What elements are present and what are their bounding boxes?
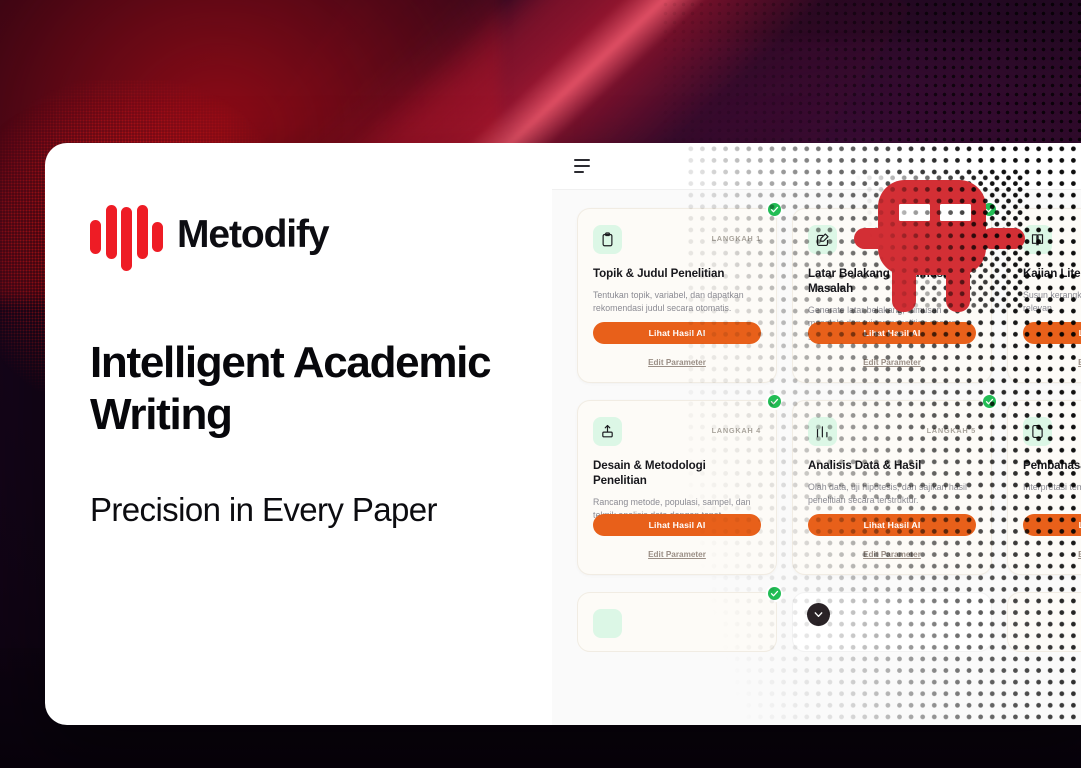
step-card[interactable]: LANGKAH 5 Analisis Data & Hasil Olah dat… <box>792 400 992 575</box>
view-ai-result-button[interactable]: Lihat Hasil AI <box>593 514 761 536</box>
edit-parameter-link[interactable]: Edit Parameter <box>578 358 776 367</box>
doc-icon <box>1023 417 1052 446</box>
edit-square-icon <box>808 225 837 254</box>
step-label: LANGKAH 5 <box>927 426 976 435</box>
view-ai-result-button[interactable]: Lihat Hasil AI <box>1023 322 1081 344</box>
status-badge <box>766 585 783 602</box>
step-title: Topik & Judul Penelitian <box>593 267 761 282</box>
view-ai-result-button[interactable]: Lihat Hasil AI <box>593 322 761 344</box>
edit-parameter-link[interactable]: Edit Parameter <box>793 550 991 559</box>
status-badge <box>766 393 783 410</box>
step-title: Desain & Metodologi Penelitian <box>593 459 761 489</box>
bar-chart-icon <box>808 417 837 446</box>
step-description: Interpretasi temuan penelitian. <box>1023 481 1081 495</box>
step-label: LANGKAH 1 <box>712 234 761 243</box>
step-title: Analisis Data & Hasil <box>808 459 976 474</box>
edit-parameter-link[interactable]: Edit Parameter <box>793 358 991 367</box>
page-subtitle: Precision in Every Paper <box>90 488 490 533</box>
collapse-panel[interactable] <box>792 592 992 652</box>
step-description: Olah data, uji hipotesis, dan sajikan ha… <box>808 481 976 508</box>
status-badge <box>981 393 998 410</box>
edit-parameter-link[interactable]: Edit Parameter <box>1008 358 1081 367</box>
step-description: Tentukan topik, variabel, dan dapatkan r… <box>593 289 761 316</box>
chevron-down-icon[interactable] <box>807 603 830 626</box>
status-badge <box>766 201 783 218</box>
waveform-bars-icon <box>90 203 163 265</box>
clipboard-icon <box>593 225 622 254</box>
hero-copy: Metodify Intelligent Academic Writing Pr… <box>90 203 560 533</box>
book-icon <box>1023 225 1052 254</box>
step-card[interactable]: LANGKAH 4 Desain & Metodologi Penelitian… <box>577 400 777 575</box>
edit-parameter-link[interactable]: Edit Parameter <box>578 550 776 559</box>
step-label: LANGKAH 4 <box>712 426 761 435</box>
card-icon-placeholder <box>593 609 622 638</box>
brand-logo[interactable]: Metodify <box>90 203 560 265</box>
step-title: Pembahasan <box>1023 459 1081 474</box>
step-card-grid-partial <box>552 592 1081 652</box>
step-card[interactable] <box>1007 592 1081 652</box>
upload-tray-icon <box>593 417 622 446</box>
view-ai-result-button[interactable]: Lihat Hasil AI <box>1023 514 1081 536</box>
step-title: Kajian Literatur <box>1023 267 1081 282</box>
view-ai-result-button[interactable]: Lihat Hasil AI <box>808 322 976 344</box>
hamburger-list-icon[interactable] <box>574 159 590 174</box>
robot-mascot-icon <box>852 172 1027 312</box>
page-title: Intelligent Academic Writing <box>90 337 550 441</box>
view-ai-result-button[interactable]: Lihat Hasil AI <box>808 514 976 536</box>
brand-name: Metodify <box>177 215 329 254</box>
step-card[interactable]: LANGKAH 1 Topik & Judul Penelitian Tentu… <box>577 208 777 383</box>
edit-parameter-link[interactable]: Edit Parameter <box>1008 550 1081 559</box>
step-card[interactable]: LANGKAH 6 Pembahasan Interpretasi temuan… <box>1007 400 1081 575</box>
step-card[interactable] <box>577 592 777 652</box>
step-description: Susun kerangka teori dan tinjauan pustak… <box>1023 289 1081 316</box>
